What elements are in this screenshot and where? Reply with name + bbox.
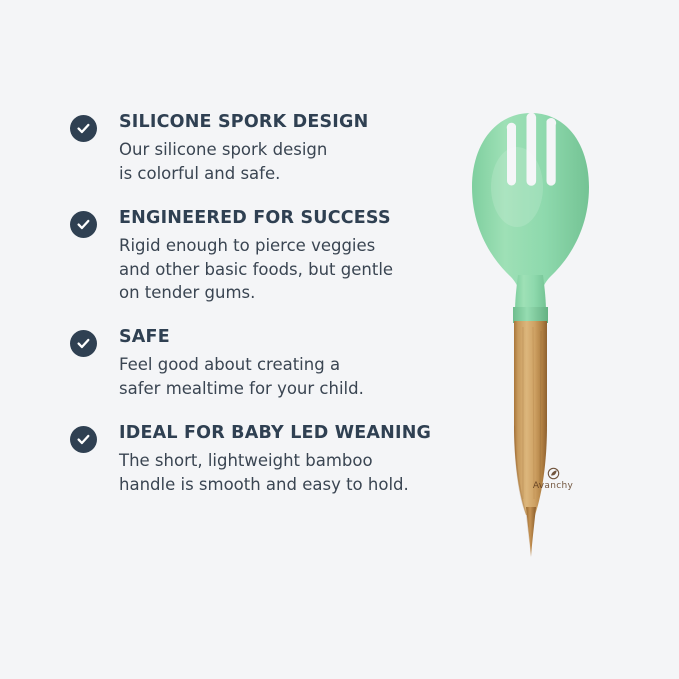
product-feature-graphic: SILICONE SPORK DESIGN Our silicone spork… [0, 0, 679, 679]
feature-title: SAFE [119, 327, 470, 349]
brand-logo: Avanchy [517, 467, 589, 491]
check-icon [70, 426, 97, 453]
feature-item-silicone-spork-design: SILICONE SPORK DESIGN Our silicone spork… [70, 112, 470, 186]
feature-body: Our silicone spork design is colorful an… [119, 138, 470, 186]
feature-title: SILICONE SPORK DESIGN [119, 112, 470, 134]
brand-name: Avanchy [533, 481, 573, 491]
feature-item-engineered-for-success: ENGINEERED FOR SUCCESS Rigid enough to p… [70, 208, 470, 306]
feature-title: ENGINEERED FOR SUCCESS [119, 208, 470, 230]
check-icon [70, 211, 97, 238]
feature-body: The short, lightweight bamboo handle is … [119, 449, 470, 497]
brand-leaf-icon [547, 467, 560, 480]
feature-list: SILICONE SPORK DESIGN Our silicone spork… [70, 112, 470, 519]
check-icon [70, 330, 97, 357]
feature-item-safe: SAFE Feel good about creating a safer me… [70, 327, 470, 401]
feature-item-ideal-for-baby-led-weaning: IDEAL FOR BABY LED WEANING The short, li… [70, 423, 470, 497]
feature-title: IDEAL FOR BABY LED WEANING [119, 423, 470, 445]
check-icon [70, 115, 97, 142]
feature-body: Rigid enough to pierce veggies and other… [119, 234, 470, 306]
feature-body: Feel good about creating a safer mealtim… [119, 353, 470, 401]
product-image: Avanchy [455, 95, 655, 575]
